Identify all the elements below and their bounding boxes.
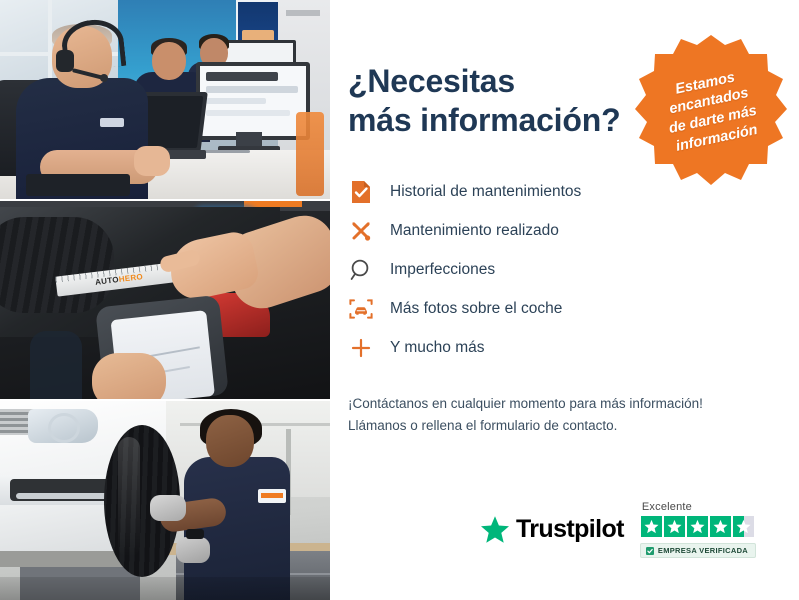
- mechanic-head: [206, 415, 254, 467]
- trustpilot-star-half: [733, 516, 754, 537]
- trustpilot-star-icon: [480, 515, 510, 544]
- trustpilot-star-filled: [664, 516, 685, 537]
- contact-line-1: ¡Contáctanos en cualquier momento para m…: [348, 393, 769, 415]
- feature-label: Historial de mantenimientos: [390, 183, 581, 200]
- feature-item-imperfecciones: Imperfecciones: [348, 250, 769, 289]
- agent-hand: [134, 146, 170, 176]
- monitor-screen-row: [206, 98, 266, 104]
- car-chrome-trim: [16, 493, 114, 499]
- inspector-hand-lower: [92, 353, 166, 400]
- content-panel: ¿Necesitas más información? Estamos enca…: [330, 0, 799, 600]
- verified-check-icon: [646, 547, 654, 555]
- mechanic-glove-upper: [150, 495, 186, 521]
- plus-icon: [348, 335, 374, 361]
- call-center-agent-photo: [0, 0, 330, 199]
- monitor-screen-row: [206, 86, 298, 93]
- background-agent-2-head: [152, 42, 186, 80]
- uniform-logo-bar: [261, 493, 283, 498]
- car-tire: [0, 217, 114, 313]
- feature-label: Y mucho más: [390, 339, 484, 356]
- trustpilot-rating: Excelente: [640, 501, 756, 558]
- headset-microphone: [100, 74, 108, 82]
- verified-business-badge: EMPRESA VERIFICADA: [640, 543, 756, 558]
- wheel-highlight: [118, 437, 140, 557]
- contact-text: ¡Contáctanos en cualquier momento para m…: [348, 393, 769, 438]
- photo-column: AUTOHERO: [0, 0, 330, 600]
- magnifier-icon: [348, 257, 374, 283]
- headset-earcup: [56, 50, 74, 72]
- trustpilot-brand: Trustpilot: [480, 515, 624, 544]
- agent-uniform-logo: [100, 118, 124, 127]
- feature-list: Historial de mantenimientos Mantenimient…: [348, 172, 769, 367]
- headline-line-2: más información?: [348, 101, 628, 140]
- floor-shadow: [0, 577, 330, 600]
- wall-shelf: [286, 10, 320, 16]
- verified-business-label: EMPRESA VERIFICADA: [658, 546, 748, 555]
- trustpilot-rating-label: Excelente: [642, 501, 692, 513]
- trustpilot-star-filled: [641, 516, 662, 537]
- contact-line-2: Llámanos o rellena el formulario de cont…: [348, 415, 769, 437]
- page-title: ¿Necesitas más información?: [348, 62, 628, 140]
- feature-label: Mantenimiento realizado: [390, 222, 559, 239]
- car-inspection-photo: AUTOHERO: [0, 199, 330, 400]
- background-person: [30, 331, 82, 400]
- feature-label: Más fotos sobre el coche: [390, 300, 562, 317]
- orange-equipment: [296, 112, 324, 196]
- monitor-screen-bar: [206, 72, 278, 81]
- mechanic-glove-lower: [176, 537, 210, 563]
- desktop-monitor: [196, 62, 310, 140]
- trustpilot-wordmark: Trustpilot: [516, 515, 624, 544]
- badge-content: Estamos encantados de darte más informac…: [618, 18, 799, 203]
- more-info-badge: Estamos encantados de darte más informac…: [633, 33, 789, 189]
- trustpilot-star-filled: [710, 516, 731, 537]
- car-photo-icon: [348, 296, 374, 322]
- feature-item-mas: Y mucho más: [348, 328, 769, 367]
- monitor-screen-row: [206, 110, 290, 116]
- trustpilot-widget[interactable]: Trustpilot Excelente: [480, 501, 756, 558]
- badge-text: Estamos encantados de darte más informac…: [643, 62, 780, 160]
- mechanic-watch: [186, 529, 204, 539]
- mechanic-uniform-logo: [258, 489, 286, 503]
- headline-line-1: ¿Necesitas: [348, 62, 628, 101]
- desk-tablet: [26, 174, 130, 196]
- feature-label: Imperfecciones: [390, 261, 495, 278]
- headset-icon: [618, 46, 648, 73]
- feature-item-mantenimiento: Mantenimiento realizado: [348, 211, 769, 250]
- feature-item-fotos: Más fotos sobre el coche: [348, 289, 769, 328]
- document-check-icon: [348, 179, 374, 205]
- trustpilot-stars: [641, 516, 754, 537]
- trustpilot-star-filled: [687, 516, 708, 537]
- tire-inspection-photo: [0, 399, 330, 600]
- tools-icon: [348, 218, 374, 244]
- promo-banner: AUTOHERO: [0, 0, 799, 600]
